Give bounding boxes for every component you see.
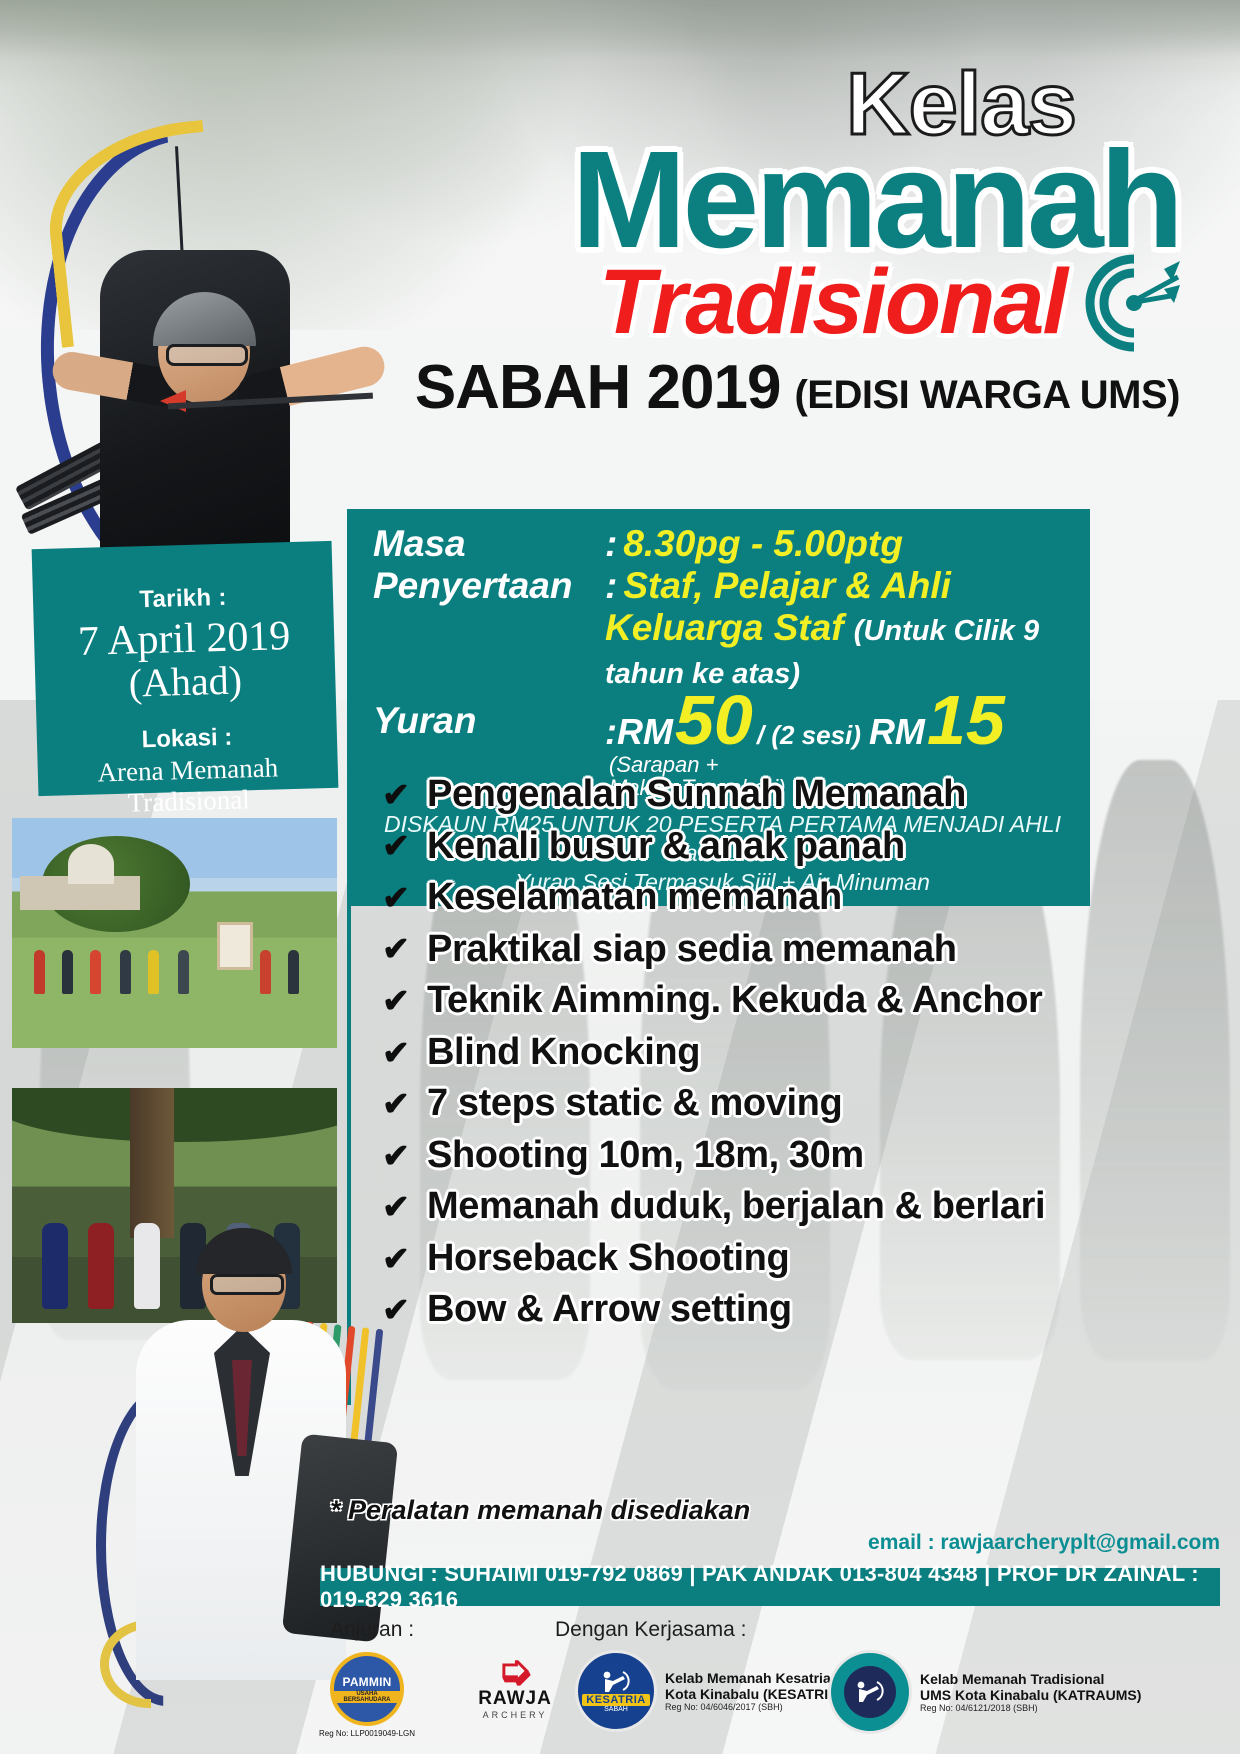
list-item: ✔Kenali busur & anak panah (381, 825, 1080, 868)
glasses-icon (166, 344, 248, 366)
katraums-badge (828, 1650, 912, 1734)
check-icon: ✔ (381, 932, 411, 965)
list-item: ✔Praktikal siap sedia memanah (381, 928, 1080, 971)
checklist-label: 7 steps static & moving (427, 1082, 842, 1125)
kesatria-text: Kelab Memanah Kesatria Kota Kinabalu (KE… (665, 1670, 843, 1713)
masa-value-row: :8.30pg - 5.00ptg (605, 523, 1072, 565)
checklist-label: Horseback Shooting (427, 1237, 789, 1280)
masa-colon: : (605, 523, 617, 564)
archer-silhouette-icon (599, 1670, 633, 1694)
logo-rawja-archery: ➭ RAWJA ARCHERY (455, 1654, 575, 1720)
person-shape (42, 1223, 68, 1309)
tree-canopy-shape (12, 1088, 337, 1142)
person-shape (90, 950, 101, 994)
katraums-text: Kelab Memanah Tradisional UMS Kota Kinab… (920, 1671, 1141, 1714)
penyertaan-label: Penyertaan (373, 565, 605, 692)
penyertaan-value-row: :Staf, Pelajar & Ahli Keluarga Staf (Unt… (605, 565, 1072, 692)
photo-thumbnail-field (12, 818, 337, 1048)
checklist-label: Memanah duduk, berjalan & berlari (427, 1185, 1045, 1228)
kesatria-badge-line-2: SABAH (604, 1706, 628, 1713)
list-item: ✔Blind Knocking (381, 1031, 1080, 1074)
katraums-badge-inner (844, 1666, 896, 1718)
kesatria-title-line-2: Kota Kinabalu (KESATRIA) (665, 1686, 843, 1702)
headline-sabah: SABAH 2019 (415, 357, 781, 419)
list-item: ✔Horseback Shooting (381, 1237, 1080, 1280)
kerjasama-label: Dengan Kerjasama : (555, 1618, 746, 1642)
list-item: ✔Bow & Arrow setting (381, 1288, 1080, 1331)
person-shape (288, 950, 299, 994)
archery-target-icon (1060, 251, 1180, 355)
list-item: ✔Pengenalan Sunnah Memanah (381, 773, 1080, 816)
person-shape (120, 950, 131, 994)
masa-label: Masa (373, 523, 605, 565)
logo-katraums: Kelab Memanah Tradisional UMS Kota Kinab… (828, 1650, 1141, 1734)
check-icon: ✔ (381, 1087, 411, 1120)
logo-pammin: PAMMIN USAHA BERSAHUDARA Reg No: LLP0019… (330, 1652, 422, 1738)
person-hair-shape (196, 1228, 292, 1274)
list-item: ✔7 steps static & moving (381, 1082, 1080, 1125)
email-address[interactable]: email : rawjaarcheryplt@gmail.com (868, 1531, 1220, 1555)
background-figure (1080, 760, 1230, 1360)
date-location-box: Tarikh : 7 April 2019 (Ahad) Lokasi : Ar… (32, 541, 339, 796)
checklist-label: Praktikal siap sedia memanah (427, 928, 957, 971)
headline-sabah-row: SABAH 2019 (EDISI WARGA UMS) (350, 357, 1180, 419)
poster-headline: Kelas Memanah Tradisional SABAH 2019 (ED… (350, 62, 1180, 419)
person-shape (34, 950, 45, 994)
list-item: ✔Keselamatan memanah (381, 876, 1080, 919)
people-row (12, 938, 337, 994)
person-shape (62, 950, 73, 994)
contact-bar[interactable]: HUBUNGI : SUHAIMI 019-792 0869 | PAK AND… (320, 1568, 1220, 1606)
footer-logos: Anjuran : Dengan Kerjasama : PAMMIN USAH… (0, 1612, 1240, 1754)
course-checklist: ✔Pengenalan Sunnah Memanah ✔Kenali busur… (347, 745, 1090, 1405)
pammin-caption: Reg No: LLP0019049-LGN (312, 1729, 422, 1738)
check-icon: ✔ (381, 1139, 411, 1172)
katraums-reg: Reg No: 04/6121/2018 (SBH) (920, 1703, 1141, 1713)
kesatria-title-line-1: Kelab Memanah Kesatria (665, 1670, 843, 1686)
rawja-mark-icon: ➭ (455, 1654, 575, 1688)
date-label: Tarikh : (43, 581, 324, 617)
list-item: ✔Teknik Aimming. Kekuda & Anchor (381, 979, 1080, 1022)
headline-tradisional: Tradisional (599, 259, 1066, 346)
anjuran-label: Anjuran : (330, 1618, 414, 1642)
pammin-title: PAMMIN (343, 1675, 392, 1689)
kesatria-badge: KESATRIA SABAH (575, 1650, 657, 1732)
person-shape (148, 950, 159, 994)
date-value: 7 April 2019 (44, 613, 325, 665)
headline-edisi: (EDISI WARGA UMS) (794, 375, 1180, 415)
dome-shape (68, 844, 114, 884)
equipment-note: * Peralatan memanah disediakan (330, 1495, 750, 1526)
penyertaan-colon: : (605, 565, 617, 606)
check-icon: ✔ (381, 829, 411, 862)
checklist-label: Keselamatan memanah (427, 876, 842, 919)
checklist-label: Teknik Aimming. Kekuda & Anchor (427, 979, 1042, 1022)
list-item: ✔Shooting 10m, 18m, 30m (381, 1134, 1080, 1177)
checklist-label: Blind Knocking (427, 1031, 700, 1074)
rawja-title: RAWJA (455, 1688, 575, 1710)
location-line-1: Arena Memanah Tradisional (47, 751, 329, 821)
katraums-title-line-1: Kelab Memanah Tradisional (920, 1671, 1141, 1687)
check-icon: ✔ (381, 881, 411, 914)
rawja-subtitle: ARCHERY (455, 1710, 575, 1720)
pammin-badge: PAMMIN USAHA BERSAHUDARA (330, 1652, 404, 1726)
check-icon: ✔ (381, 1036, 411, 1069)
kesatria-badge-line-1: KESATRIA (582, 1694, 649, 1706)
checklist-label: Bow & Arrow setting (427, 1288, 792, 1331)
checklist-label: Pengenalan Sunnah Memanah (427, 773, 966, 816)
check-icon: ✔ (381, 778, 411, 811)
kesatria-reg: Reg No: 04/6046/2017 (SBH) (665, 1702, 843, 1712)
checklist-label: Shooting 10m, 18m, 30m (427, 1134, 864, 1177)
check-icon: ✔ (381, 984, 411, 1017)
person-shape (260, 950, 271, 994)
checklist-label: Kenali busur & anak panah (427, 825, 905, 868)
glasses-icon (210, 1274, 284, 1295)
headline-memanah: Memanah (350, 140, 1180, 261)
logo-kesatria: KESATRIA SABAH Kelab Memanah Kesatria Ko… (575, 1650, 843, 1732)
person-shape (178, 950, 189, 994)
fee-amount-second: 15 (927, 692, 1005, 748)
list-item: ✔Memanah duduk, berjalan & berlari (381, 1185, 1080, 1228)
headline-tradisional-row: Tradisional (350, 251, 1180, 355)
poster-root: Kelas Memanah Tradisional SABAH 2019 (ED… (0, 0, 1240, 1754)
katraums-title-line-2: UMS Kota Kinabalu (KATRAUMS) (920, 1687, 1141, 1703)
pammin-subtitle: USAHA BERSAHUDARA (334, 1691, 400, 1703)
archer-silhouette-icon (853, 1680, 887, 1704)
fee-amount-main: 50 (675, 692, 753, 748)
masa-value: 8.30pg - 5.00ptg (623, 523, 903, 564)
